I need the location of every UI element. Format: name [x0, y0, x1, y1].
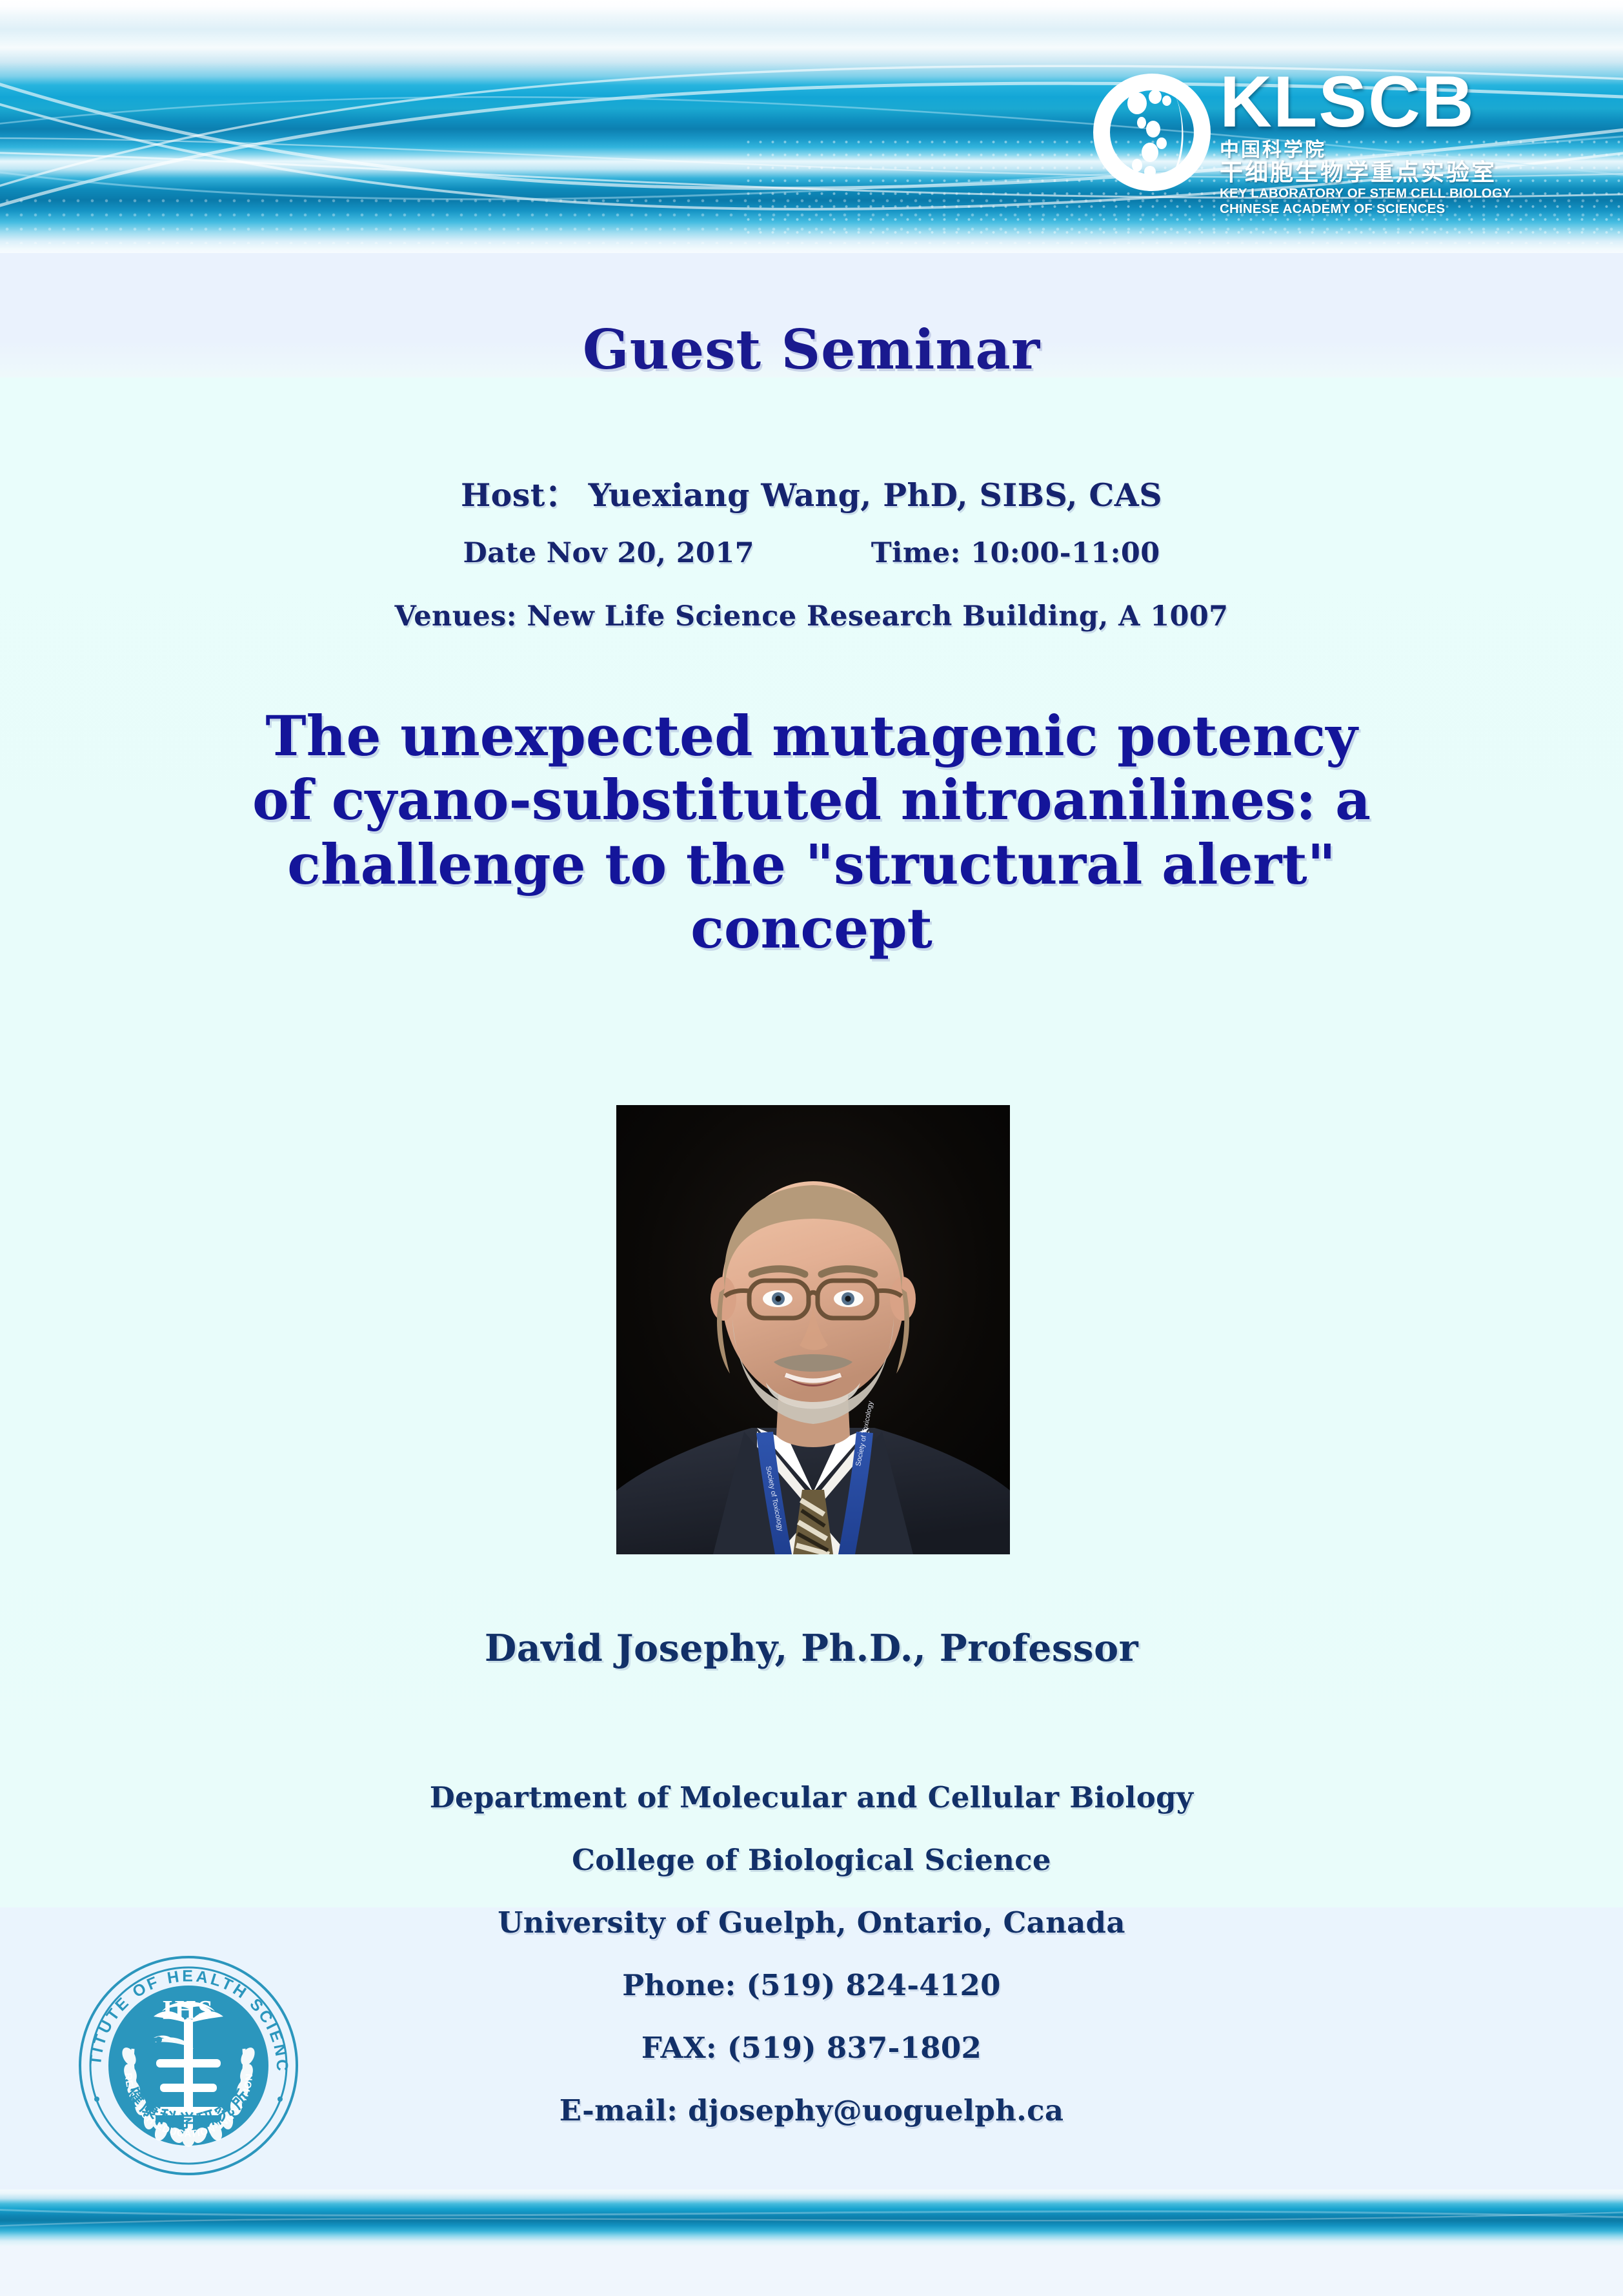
logo-chinese-line-2: 干细胞生物学重点实验室	[1220, 161, 1594, 186]
talk-title: The unexpected mutagenic potency of cyan…	[152, 705, 1471, 962]
header-banner: KLSCB 中国科学院 干细胞生物学重点实验室 KEY LABORATORY O…	[0, 0, 1623, 253]
affiliation-university: University of Guelph, Ontario, Canada	[0, 1905, 1623, 1940]
date-value: Date Nov 20, 2017	[463, 537, 754, 569]
speaker-portrait-illustration: Society of Toxicology Society of Toxicol…	[616, 1105, 1010, 1554]
logo-english-line-1: KEY LABORATORY OF STEM CELL BIOLOGY	[1220, 186, 1594, 201]
host-line: Host： Yuexiang Wang, PhD, SIBS, CAS	[0, 470, 1623, 516]
logo-english-line-2: CHINESE ACADEMY OF SCIENCES	[1220, 201, 1594, 217]
affiliation-college: College of Biological Science	[0, 1843, 1623, 1877]
venue-line: Venues: New Life Science Research Buildi…	[0, 600, 1623, 633]
logo-acronym: KLSCB	[1220, 66, 1594, 138]
time-value: Time: 10:00-11:00	[871, 537, 1160, 569]
talk-title-line-2: of cyano-substituted nitroanilines: a	[152, 769, 1471, 833]
page-title: Guest Seminar	[0, 318, 1623, 381]
klscb-logo: KLSCB 中国科学院 干细胞生物学重点实验室 KEY LABORATORY O…	[1091, 71, 1594, 216]
talk-title-line-1: The unexpected mutagenic potency	[152, 705, 1471, 769]
talk-title-line-3: challenge to the "structural alert"	[152, 833, 1471, 897]
talk-title-line-4: concept	[152, 897, 1471, 961]
logo-chinese-line-1: 中国科学院	[1220, 140, 1594, 161]
speaker-photo: Society of Toxicology Society of Toxicol…	[616, 1105, 1010, 1554]
ihs-seal-logo: INSTITUTE OF HEALTH SCIENCES	[77, 1952, 300, 2177]
date-time-line: Date Nov 20, 2017 Time: 10:00-11:00	[0, 537, 1623, 569]
affiliation-department: Department of Molecular and Cellular Bio…	[0, 1780, 1623, 1814]
footer-banner	[0, 2189, 1623, 2246]
speaker-name: David Josephy, Ph.D., Professor	[0, 1627, 1623, 1670]
seal-center-text: IHS	[162, 1996, 214, 2026]
background-band-footer	[0, 2240, 1623, 2296]
klscb-cell-icon	[1091, 71, 1213, 194]
footer-wave-decoration	[0, 2189, 1623, 2246]
